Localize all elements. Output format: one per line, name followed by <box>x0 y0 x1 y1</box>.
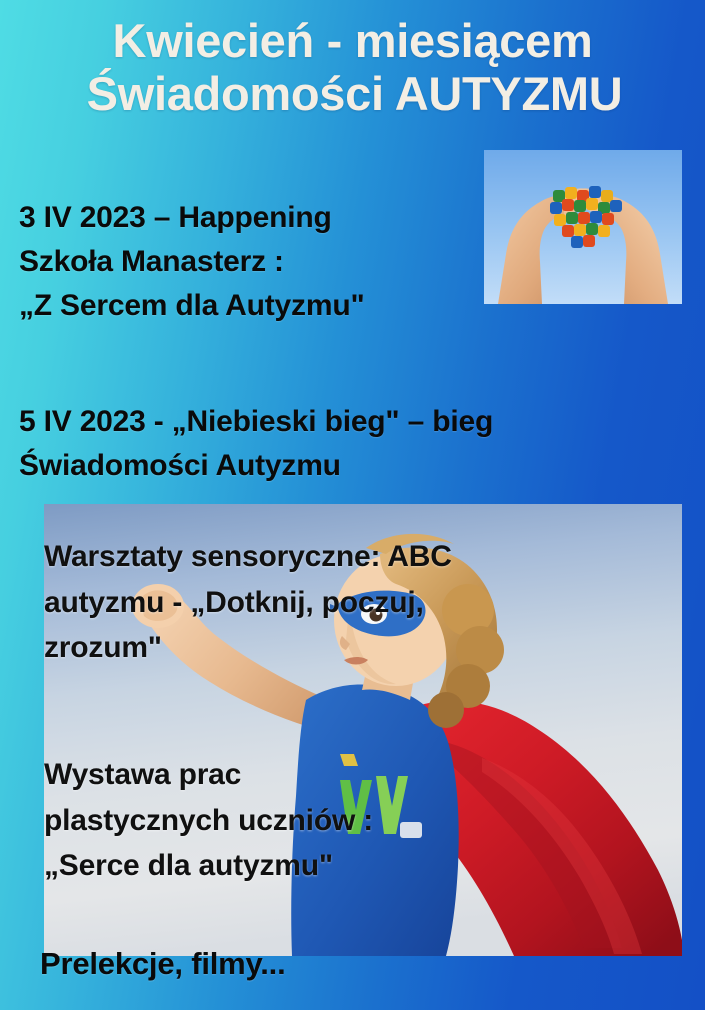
autism-awareness-poster: Kwiecień - miesiącem Świadomości AUTYZMU <box>0 0 705 1010</box>
event-wystawa-line-1: Wystawa prac <box>44 752 373 798</box>
event-happening: 3 IV 2023 – Happening Szkoła Manasterz :… <box>19 196 364 327</box>
event-warsztaty-line-2: autyzmu - „Dotknij, poczuj, <box>44 580 452 626</box>
event-bieg-line-1: 5 IV 2023 - „Niebieski bieg" – bieg <box>19 400 493 444</box>
event-bieg-line-2: Świadomości Autyzmu <box>19 444 493 488</box>
title-line-2: Świadomości AUTYZMU <box>0 67 705 120</box>
event-happening-line-2: Szkoła Manasterz : <box>19 240 364 284</box>
event-niebieski-bieg: 5 IV 2023 - „Niebieski bieg" – bieg Świa… <box>19 400 493 488</box>
event-happening-line-1: 3 IV 2023 – Happening <box>19 196 364 240</box>
hands-heart-illustration <box>484 150 682 304</box>
event-wystawa-line-2: plastycznych uczniów : <box>44 798 373 844</box>
event-prelekcje: Prelekcje, filmy... <box>40 944 286 984</box>
event-wystawa-line-3: „Serce dla autyzmu" <box>44 843 373 889</box>
event-warsztaty-line-3: zrozum" <box>44 625 452 671</box>
title-line-1: Kwiecień - miesiącem <box>0 14 705 67</box>
event-happening-line-3: „Z Sercem dla Autyzmu" <box>19 284 364 328</box>
event-warsztaty-line-1: Warsztaty sensoryczne: ABC <box>44 534 452 580</box>
hands-puzzle-heart-photo <box>484 150 682 304</box>
event-prelekcje-line-1: Prelekcje, filmy... <box>40 946 286 981</box>
event-wystawa-prac: Wystawa prac plastycznych uczniów : „Ser… <box>44 752 373 889</box>
event-warsztaty-sensoryczne: Warsztaty sensoryczne: ABC autyzmu - „Do… <box>44 534 452 671</box>
page-title: Kwiecień - miesiącem Świadomości AUTYZMU <box>0 14 705 120</box>
